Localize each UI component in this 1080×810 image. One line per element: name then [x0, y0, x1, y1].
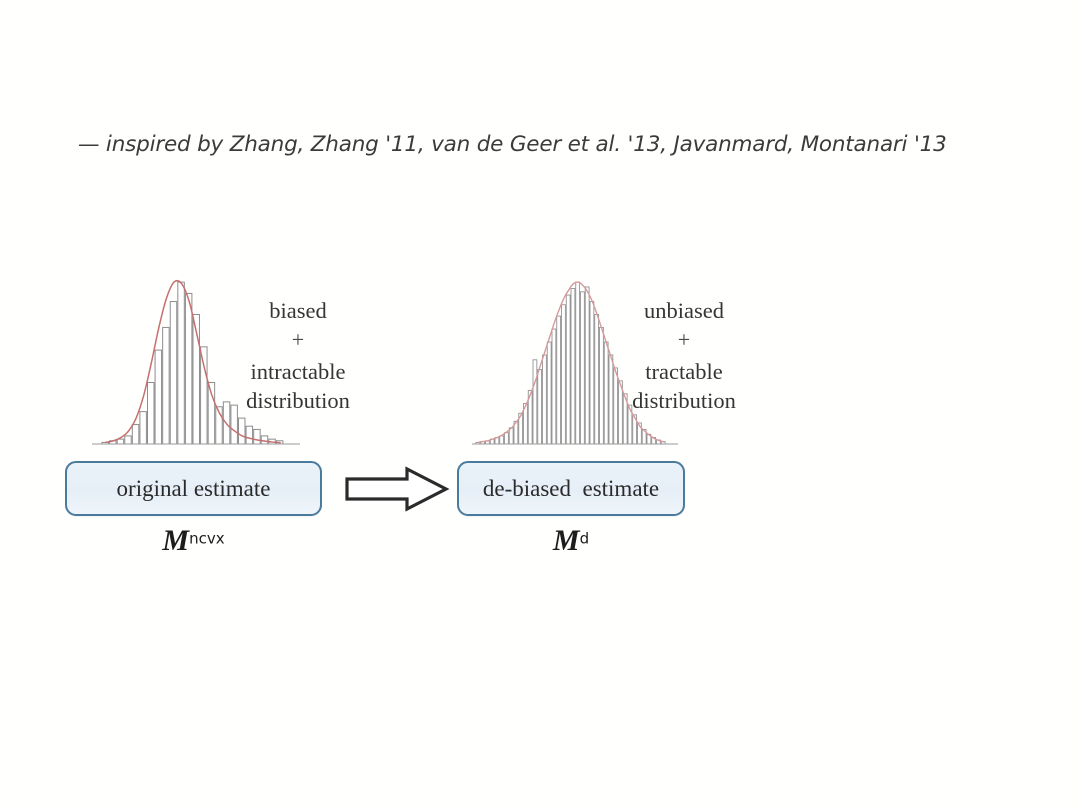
histogram-bar	[557, 316, 561, 444]
block-arrow-right-icon	[345, 466, 450, 517]
de-biased-estimate-box-label: de-biased estimate	[483, 476, 659, 502]
histogram-bar	[576, 282, 580, 444]
histogram-bar	[185, 293, 191, 444]
left-annot-line3: distribution	[208, 386, 388, 415]
histogram-bar	[581, 292, 585, 444]
left-annot-plus: +	[208, 326, 388, 355]
formula-superscript-right: d	[580, 530, 590, 548]
histogram-bar	[246, 426, 252, 444]
histogram-bar	[239, 418, 245, 444]
histogram-bar	[566, 295, 570, 444]
right-annot-line3: distribution	[594, 386, 774, 415]
histogram-bar	[571, 289, 575, 444]
histogram-bar	[547, 342, 551, 444]
histogram-bar	[500, 436, 504, 444]
histogram-bar	[254, 429, 260, 444]
histogram-bar	[562, 305, 566, 444]
right-annotation-group: unbiased + tractable distribution	[594, 296, 774, 415]
histogram-bar	[140, 412, 146, 444]
de-biased-estimate-formula: Md	[457, 524, 685, 558]
histogram-bar	[533, 360, 537, 444]
slide-canvas: — inspired by Zhang, Zhang '11, van de G…	[0, 0, 1080, 810]
histogram-bar	[163, 327, 169, 444]
histogram-bar	[538, 370, 542, 444]
left-annotation-group: biased + intractable distribution	[208, 296, 388, 415]
formula-symbol-left: M	[162, 524, 189, 557]
histogram-bar	[148, 382, 154, 444]
citation-line: — inspired by Zhang, Zhang '11, van de G…	[78, 132, 1028, 157]
histogram-bar	[543, 355, 547, 444]
histogram-bar	[125, 436, 131, 444]
right-annot-line1: unbiased	[594, 296, 774, 325]
histogram-bar	[505, 433, 509, 444]
left-annot-line2: intractable	[208, 357, 388, 386]
right-annot-plus: +	[594, 326, 774, 355]
de-biased-estimate-box[interactable]: de-biased estimate	[457, 461, 685, 516]
formula-superscript-left: ncvx	[189, 530, 225, 548]
histogram-bar	[201, 347, 207, 444]
histogram-bar	[552, 329, 556, 444]
histogram-bar	[585, 287, 589, 444]
original-estimate-box[interactable]: original estimate	[65, 461, 322, 516]
arrow-shape	[347, 469, 446, 509]
histogram-bar	[132, 425, 138, 444]
formula-symbol-right: M	[553, 524, 580, 557]
original-estimate-box-label: original estimate	[117, 476, 271, 502]
histogram-bar	[117, 439, 123, 444]
histogram-bar	[178, 282, 184, 444]
histogram-bar	[155, 350, 161, 444]
right-annot-line2: tractable	[594, 357, 774, 386]
block-arrow-right-svg	[345, 466, 450, 512]
left-annot-line1: biased	[208, 296, 388, 325]
original-estimate-formula: Mncvx	[65, 524, 322, 558]
histogram-bar	[170, 302, 176, 444]
